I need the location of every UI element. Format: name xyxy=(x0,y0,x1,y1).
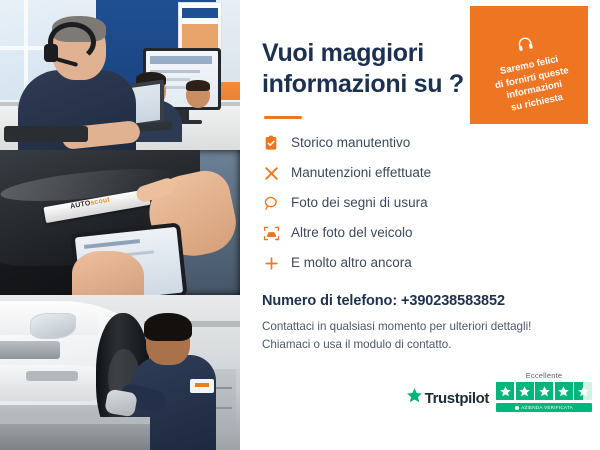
uniform-logo-patch xyxy=(190,379,214,393)
trustpilot-rating: Eccellente xyxy=(496,371,592,412)
title-divider xyxy=(264,116,302,119)
feature-label: Storico manutentivo xyxy=(291,136,410,150)
phone-row: Numero di telefono: +390238583852 xyxy=(262,293,582,309)
list-item: Foto dei segni di usura xyxy=(262,193,582,213)
list-item: Altre foto del veicolo xyxy=(262,223,582,243)
trustpilot-star-icon xyxy=(406,387,423,409)
lift-platform-top xyxy=(0,417,150,424)
feature-label: Foto dei segni di usura xyxy=(291,196,428,210)
background-person-hair xyxy=(186,80,210,91)
list-item: E molto altro ancora xyxy=(262,253,582,273)
contact-text: Contattaci in qualsiasi momento per ulte… xyxy=(262,318,582,354)
phone-label: Numero di telefono: xyxy=(262,293,397,309)
call-center-photo xyxy=(0,0,240,150)
contact-line-1: Contattaci in qualsiasi momento per ulte… xyxy=(262,318,582,336)
rating-stars xyxy=(496,382,592,400)
feature-label: Manutenzioni effettuate xyxy=(291,166,431,180)
rating-star-3 xyxy=(535,382,553,400)
rating-star-1 xyxy=(496,382,514,400)
feature-label: E molto altro ancora xyxy=(291,256,412,270)
car-headlight xyxy=(30,313,76,339)
car-grille xyxy=(0,341,60,359)
clipboard-check-icon xyxy=(262,134,280,152)
magnifier-icon xyxy=(262,194,280,212)
rating-label: Eccellente xyxy=(496,371,592,380)
poster-image xyxy=(182,24,218,50)
photo-column: AUTOscout xyxy=(0,0,240,450)
monitor-screen-toolbar xyxy=(150,56,212,64)
callout-badge: Saremo felici di fornirti queste informa… xyxy=(470,6,588,124)
keyboard xyxy=(4,126,88,142)
phone-number[interactable]: +390238583852 xyxy=(401,293,505,309)
wrench-screwdriver-icon xyxy=(262,164,280,182)
bumper-air-intake xyxy=(26,371,78,381)
car-lift-platform xyxy=(0,424,150,450)
poster-banner xyxy=(182,8,218,18)
content-panel: Vuoi maggiori informazioni su ? Saremo f… xyxy=(240,0,600,450)
trustpilot-logo: Trustpilot xyxy=(406,387,489,412)
rating-star-5 xyxy=(574,382,592,400)
check-icon xyxy=(515,406,519,410)
wheel-inspection-photo xyxy=(0,295,240,450)
rating-star-2 xyxy=(516,382,534,400)
list-item: Manutenzioni effettuate xyxy=(262,163,582,183)
promo-banner: AUTOscout xyxy=(0,0,600,450)
page-title: Vuoi maggiori informazioni su ? xyxy=(262,38,477,100)
technician-hand-holding-tablet xyxy=(72,251,144,295)
badge-content: Saremo felici di fornirti queste informa… xyxy=(477,11,580,118)
contact-line-2: Chiamaci o usa il modulo di contatto. xyxy=(262,336,582,354)
rating-star-4 xyxy=(555,382,573,400)
mechanic-hair xyxy=(144,313,192,341)
trustpilot-wordmark: Trustpilot xyxy=(425,390,489,407)
verified-badge: AZIENDA VERIFICATA xyxy=(496,403,592,412)
car-inspection-photo: AUTOscout xyxy=(0,150,240,295)
car-frame-icon xyxy=(262,224,280,242)
feature-list: Storico manutentivo Manutenzioni effettu… xyxy=(262,133,582,273)
feature-label: Altre foto del veicolo xyxy=(291,226,413,240)
plus-icon xyxy=(262,254,280,272)
list-item: Storico manutentivo xyxy=(262,133,582,153)
trustpilot-widget[interactable]: Trustpilot Eccellente xyxy=(406,371,592,412)
mechanic-glove xyxy=(104,389,138,418)
verified-label: AZIENDA VERIFICATA xyxy=(521,405,573,410)
